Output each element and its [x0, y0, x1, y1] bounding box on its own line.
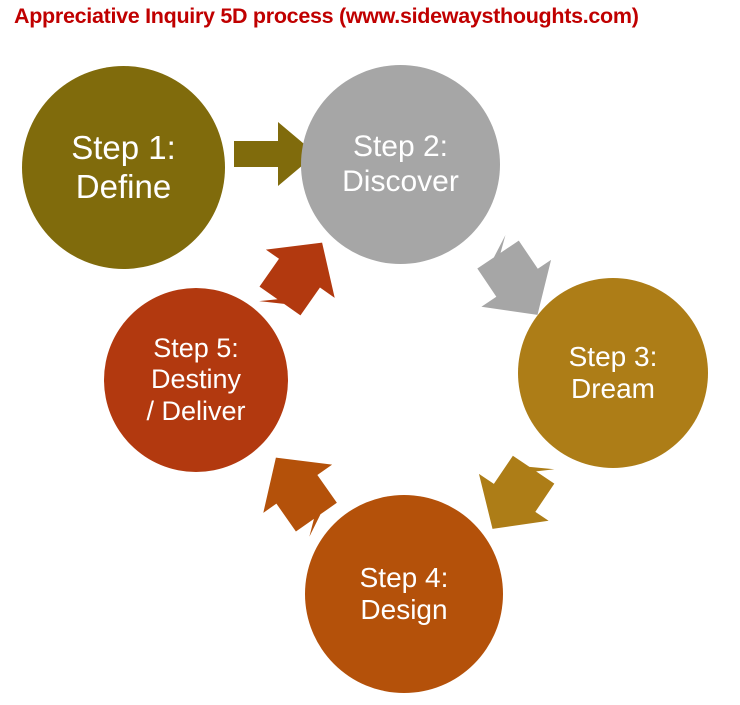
step-5-destiny-deliver-circle[interactable]: Step 5: Destiny / Deliver: [104, 288, 288, 472]
step-4-label-line1: Step 4:: [360, 562, 449, 594]
step-2-label-line1: Step 2:: [353, 130, 448, 165]
step-5-label-line1: Step 5:: [153, 333, 239, 364]
step-2-discover-circle[interactable]: Step 2: Discover: [301, 65, 500, 264]
step-1-label-line2: Define: [76, 168, 171, 206]
step-3-dream-circle[interactable]: Step 3: Dream: [518, 278, 708, 468]
step-2-label-line2: Discover: [342, 165, 459, 200]
step-3-label-line2: Dream: [571, 373, 655, 405]
step-3-label-line1: Step 3:: [569, 341, 658, 373]
step-4-label-line2: Design: [360, 594, 447, 626]
step-5-label-line3: / Deliver: [146, 396, 245, 427]
page-title: Appreciative Inquiry 5D process (www.sid…: [14, 4, 730, 29]
diagram-canvas: Appreciative Inquiry 5D process (www.sid…: [0, 0, 740, 705]
step-5-label-line2: Destiny: [151, 364, 241, 395]
step-1-label-line1: Step 1:: [71, 129, 176, 167]
step-1-define-circle[interactable]: Step 1: Define: [22, 66, 225, 269]
step-4-design-circle[interactable]: Step 4: Design: [305, 495, 503, 693]
